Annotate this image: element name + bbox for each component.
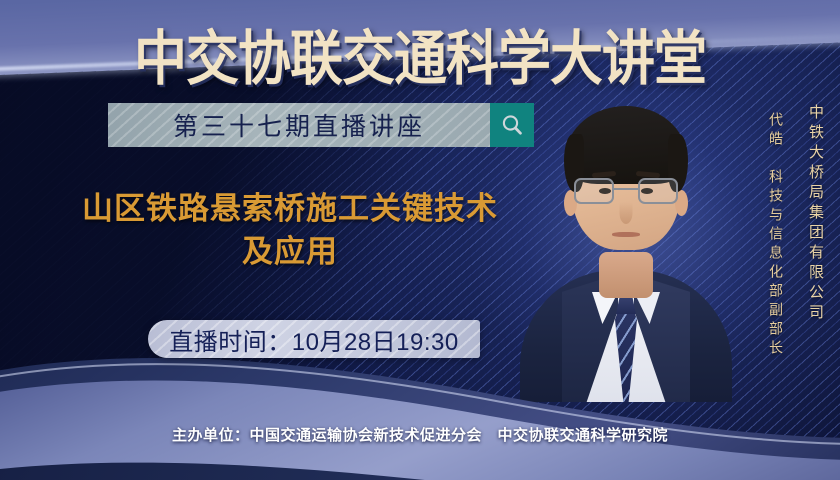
neck [599, 252, 653, 298]
session-banner: 第三十七期直播讲座 [108, 103, 534, 147]
lecture-title: 山区铁路悬索桥施工关键技术 及应用 [30, 188, 550, 274]
glasses-lens-left [574, 178, 614, 204]
livestream-time-badge: 直播时间：10月28日19:30 [148, 320, 480, 358]
glasses-bridge [614, 188, 638, 190]
glasses-lens-right [638, 178, 678, 204]
organizer-footer: 主办单位：中国交通运输协会新技术促进分会 中交协联交通科学研究院 [0, 424, 840, 445]
lecture-title-line-1: 山区铁路悬索桥施工关键技术 [30, 188, 550, 231]
livestream-poster: 中交协联交通科学大讲堂 第三十七期直播讲座 山区铁路悬索桥施工关键技术 及应用 [0, 0, 840, 480]
page-title: 中交协联交通科学大讲堂 [0, 12, 840, 97]
livestream-time-text: 直播时间：10月28日19:30 [169, 322, 458, 357]
nose [620, 202, 633, 224]
lecture-title-line-2: 及应用 [30, 231, 550, 274]
speaker-company: 中铁大桥局集团有限公司 [805, 104, 826, 324]
mouth [612, 232, 640, 237]
speaker-name-title: 代皓 科技与信息化部副部长 [766, 112, 786, 359]
session-label-box: 第三十七期直播讲座 [108, 103, 490, 147]
session-label-text: 第三十七期直播讲座 [173, 107, 425, 143]
